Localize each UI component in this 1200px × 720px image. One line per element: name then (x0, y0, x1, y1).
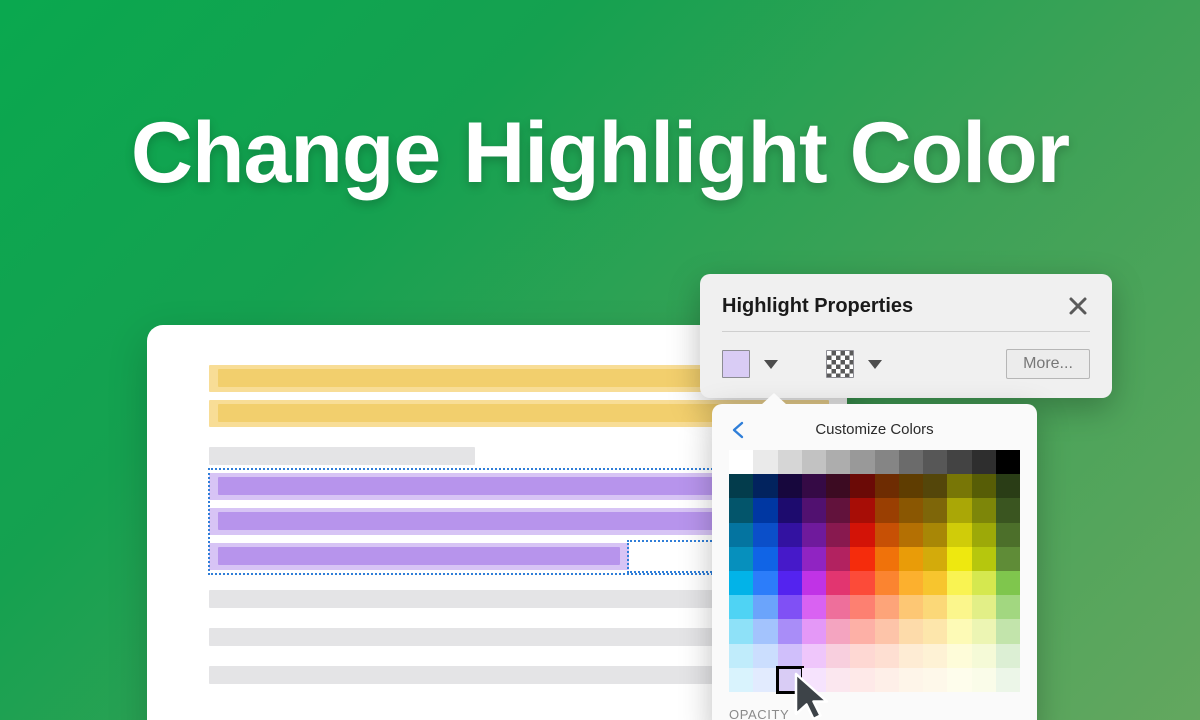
mouse-pointer-icon (793, 672, 837, 720)
color-swatch-cell[interactable] (753, 668, 777, 692)
color-swatch-cell[interactable] (947, 644, 971, 668)
highlight-properties-dialog: Highlight Properties More... (700, 274, 1112, 398)
color-swatch-cell[interactable] (802, 474, 826, 498)
color-swatch-cell[interactable] (875, 619, 899, 643)
color-swatch-cell[interactable] (972, 595, 996, 619)
color-swatch-cell[interactable] (729, 547, 753, 571)
color-swatch-cell[interactable] (850, 547, 874, 571)
color-swatch-cell[interactable] (778, 498, 802, 522)
document-line (209, 447, 475, 465)
color-swatch-cell[interactable] (802, 571, 826, 595)
color-swatch-cell[interactable] (729, 450, 753, 474)
color-swatch-cell[interactable] (729, 619, 753, 643)
color-swatch-cell[interactable] (826, 619, 850, 643)
color-swatch-cell[interactable] (753, 644, 777, 668)
color-swatch-cell[interactable] (923, 523, 947, 547)
color-swatch-cell[interactable] (778, 547, 802, 571)
color-swatch-cell[interactable] (996, 523, 1020, 547)
color-swatch-cell[interactable] (923, 450, 947, 474)
color-swatch-cell[interactable] (778, 595, 802, 619)
color-swatch-cell[interactable] (826, 523, 850, 547)
color-swatch-cell[interactable] (923, 668, 947, 692)
color-swatch-cell[interactable] (753, 474, 777, 498)
color-swatch-cell[interactable] (947, 523, 971, 547)
color-swatch-cell[interactable] (802, 547, 826, 571)
color-swatch-cell[interactable] (899, 547, 923, 571)
color-swatch-cell[interactable] (826, 498, 850, 522)
color-swatch-cell[interactable] (972, 619, 996, 643)
color-swatch-cell[interactable] (996, 571, 1020, 595)
color-swatch-cell[interactable] (947, 474, 971, 498)
color-swatch-cell[interactable] (850, 619, 874, 643)
color-swatch-cell[interactable] (802, 595, 826, 619)
color-swatch-cell[interactable] (729, 474, 753, 498)
color-swatch-cell[interactable] (899, 450, 923, 474)
color-swatch-cell[interactable] (729, 498, 753, 522)
color-swatch-cell[interactable] (996, 450, 1020, 474)
color-swatch-cell[interactable] (753, 619, 777, 643)
color-swatch-cell[interactable] (923, 619, 947, 643)
dialog-title: Highlight Properties (722, 295, 913, 318)
color-swatch-cell[interactable] (729, 644, 753, 668)
color-swatch-cell[interactable] (729, 668, 753, 692)
color-swatch-cell[interactable] (729, 571, 753, 595)
color-swatch-cell[interactable] (899, 668, 923, 692)
color-swatch-cell[interactable] (729, 595, 753, 619)
color-grid[interactable] (729, 450, 1020, 692)
color-swatch-cell[interactable] (778, 474, 802, 498)
color-swatch-cell[interactable] (972, 668, 996, 692)
color-swatch-cell[interactable] (947, 668, 971, 692)
color-swatch-cell[interactable] (753, 498, 777, 522)
color-swatch-cell[interactable] (875, 547, 899, 571)
color-swatch-cell[interactable] (850, 668, 874, 692)
popup-heading: Customize Colors (712, 421, 1037, 438)
color-swatch-cell[interactable] (899, 474, 923, 498)
color-swatch-cell[interactable] (778, 450, 802, 474)
color-swatch-cell[interactable] (850, 523, 874, 547)
color-swatch-cell[interactable] (996, 498, 1020, 522)
color-swatch-cell[interactable] (923, 571, 947, 595)
color-swatch-cell[interactable] (753, 547, 777, 571)
color-swatch-cell[interactable] (972, 571, 996, 595)
color-swatch-cell[interactable] (899, 595, 923, 619)
color-swatch-cell[interactable] (826, 644, 850, 668)
highlight-bar[interactable] (218, 547, 620, 565)
color-swatch-cell[interactable] (875, 523, 899, 547)
color-swatch-cell[interactable] (850, 571, 874, 595)
color-swatch-cell[interactable] (802, 523, 826, 547)
color-swatch-cell[interactable] (850, 498, 874, 522)
color-swatch-cell[interactable] (875, 644, 899, 668)
color-swatch-cell[interactable] (753, 523, 777, 547)
color-swatch-cell[interactable] (972, 523, 996, 547)
color-swatch-cell[interactable] (923, 595, 947, 619)
color-swatch-cell[interactable] (850, 474, 874, 498)
color-swatch-cell[interactable] (850, 644, 874, 668)
color-swatch-cell[interactable] (875, 498, 899, 522)
color-swatch-cell[interactable] (947, 571, 971, 595)
color-swatch-cell[interactable] (826, 474, 850, 498)
color-swatch-cell[interactable] (996, 547, 1020, 571)
color-swatch-cell[interactable] (802, 498, 826, 522)
color-swatch-cell[interactable] (923, 644, 947, 668)
color-swatch-cell[interactable] (826, 450, 850, 474)
color-swatch-cell[interactable] (729, 523, 753, 547)
color-swatch-cell[interactable] (778, 619, 802, 643)
color-swatch-cell[interactable] (923, 547, 947, 571)
color-swatch[interactable] (722, 350, 750, 378)
close-icon[interactable] (1064, 292, 1092, 320)
color-swatch-cell[interactable] (826, 547, 850, 571)
more-button[interactable]: More... (1006, 349, 1090, 379)
chevron-down-icon-opacity[interactable] (868, 360, 882, 369)
color-swatch-cell[interactable] (875, 595, 899, 619)
document-line (209, 543, 629, 570)
color-swatch-cell[interactable] (778, 571, 802, 595)
color-swatch-cell[interactable] (778, 644, 802, 668)
page-root: Change Highlight Color Highlight Propert… (0, 0, 1200, 720)
color-swatch-cell[interactable] (875, 450, 899, 474)
color-swatch-cell[interactable] (923, 474, 947, 498)
color-swatch-cell[interactable] (996, 668, 1020, 692)
color-swatch-cell[interactable] (875, 668, 899, 692)
color-swatch-cell[interactable] (972, 547, 996, 571)
color-swatch-cell[interactable] (996, 595, 1020, 619)
color-swatch-cell[interactable] (802, 450, 826, 474)
popup-pointer (761, 393, 787, 405)
color-swatch-cell[interactable] (826, 571, 850, 595)
dialog-controls-row: More... (722, 344, 1090, 384)
opacity-label: OPACITY (729, 707, 789, 720)
color-swatch-cell[interactable] (996, 644, 1020, 668)
color-swatch-cell[interactable] (947, 595, 971, 619)
color-swatch-cell[interactable] (947, 450, 971, 474)
color-swatch-cell[interactable] (802, 619, 826, 643)
color-swatch-cell[interactable] (947, 547, 971, 571)
color-swatch-cell[interactable] (972, 450, 996, 474)
color-swatch-cell[interactable] (947, 498, 971, 522)
color-swatch-cell[interactable] (778, 523, 802, 547)
checkerboard-pattern-icon[interactable] (826, 350, 854, 378)
page-title: Change Highlight Color (0, 104, 1200, 203)
color-swatch-cell[interactable] (753, 595, 777, 619)
color-swatch-cell[interactable] (899, 498, 923, 522)
color-swatch-cell[interactable] (899, 644, 923, 668)
color-swatch-cell[interactable] (996, 619, 1020, 643)
color-swatch-cell[interactable] (923, 498, 947, 522)
dialog-divider (722, 331, 1090, 332)
customize-colors-popup: Customize Colors OPACITY (712, 404, 1037, 720)
color-swatch-cell[interactable] (972, 644, 996, 668)
color-swatch-cell[interactable] (802, 644, 826, 668)
chevron-down-icon-color[interactable] (764, 360, 778, 369)
color-swatch-cell[interactable] (972, 474, 996, 498)
color-swatch-cell[interactable] (875, 571, 899, 595)
color-swatch-cell[interactable] (753, 450, 777, 474)
color-swatch-cell[interactable] (850, 595, 874, 619)
color-swatch-cell[interactable] (996, 474, 1020, 498)
color-swatch-cell[interactable] (875, 474, 899, 498)
color-swatch-cell[interactable] (753, 571, 777, 595)
color-swatch-cell[interactable] (972, 498, 996, 522)
color-swatch-cell[interactable] (899, 619, 923, 643)
color-swatch-cell[interactable] (826, 595, 850, 619)
color-swatch-cell[interactable] (947, 619, 971, 643)
color-swatch-cell[interactable] (899, 523, 923, 547)
color-swatch-cell[interactable] (850, 450, 874, 474)
color-swatch-cell[interactable] (899, 571, 923, 595)
